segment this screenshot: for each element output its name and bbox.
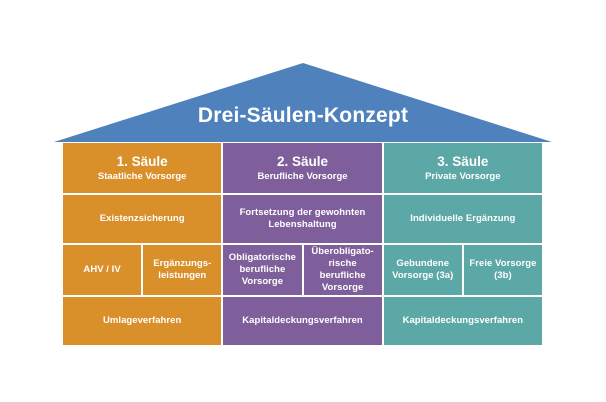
pillar-2-financing-label: Kapitaldeckungsverfahren — [242, 315, 363, 327]
pillar-2-subtitle: Berufliche Vorsorge — [257, 171, 347, 183]
pillar-1-subtitle: Staatliche Vorsorge — [98, 171, 187, 183]
pillar-2-financing[interactable]: Kapitaldeckungsverfahren — [223, 297, 381, 345]
diagram-canvas: Drei-Säulen-Konzept 1. Säule Staatliche … — [0, 0, 606, 402]
grid-row-components: AHV / IV Ergänzungs-leistungen Obligator… — [63, 245, 542, 295]
pillar-3-number: 3. Säule — [437, 153, 488, 170]
pillar-1-financing-label: Umlageverfahren — [103, 315, 181, 327]
pillar-2-component-2[interactable]: Überobligato-rische berufliche Vorsorge — [304, 245, 382, 295]
pillar-1-component-2[interactable]: Ergänzungs-leistungen — [143, 245, 221, 295]
pillar-3-components: Gebundene Vorsorge (3a) Freie Vorsorge (… — [384, 245, 542, 295]
diagram-title: Drei-Säulen-Konzept — [54, 103, 552, 129]
pillar-1-component-1[interactable]: AHV / IV — [63, 245, 141, 295]
pillar-2-component-1-label: Obligatorische berufliche Vorsorge — [227, 252, 297, 288]
pillar-2-component-2-label: Überobligato-rische berufliche Vorsorge — [308, 246, 378, 294]
pillar-1-purpose[interactable]: Existenzsicherung — [63, 195, 221, 243]
pillar-2-purpose-label: Fortsetzung der gewohnten Lebenshaltung — [227, 207, 377, 231]
pillar-3-financing[interactable]: Kapitaldeckungsverfahren — [384, 297, 542, 345]
pillar-3-purpose[interactable]: Individuelle Ergänzung — [384, 195, 542, 243]
grid-row-financing: Umlageverfahren Kapitaldeckungsverfahren… — [63, 297, 542, 345]
roof-triangle: Drei-Säulen-Konzept — [54, 63, 552, 143]
pillar-3-component-1-label: Gebundene Vorsorge (3a) — [388, 258, 458, 282]
pillar-1-financing[interactable]: Umlageverfahren — [63, 297, 221, 345]
pillar-1-component-2-label: Ergänzungs-leistungen — [147, 258, 217, 282]
pillar-3-component-2[interactable]: Freie Vorsorge (3b) — [464, 245, 542, 295]
pillar-1-header[interactable]: 1. Säule Staatliche Vorsorge — [63, 143, 221, 193]
pillars-grid: 1. Säule Staatliche Vorsorge 2. Säule Be… — [63, 143, 542, 347]
pillar-3-subtitle: Private Vorsorge — [425, 171, 500, 183]
pillar-1-component-1-label: AHV / IV — [83, 264, 120, 276]
pillar-2-purpose[interactable]: Fortsetzung der gewohnten Lebenshaltung — [223, 195, 381, 243]
pillar-1-number: 1. Säule — [117, 153, 168, 170]
pillar-3-header[interactable]: 3. Säule Private Vorsorge — [384, 143, 542, 193]
pillar-3-component-2-label: Freie Vorsorge (3b) — [468, 258, 538, 282]
pillar-3-purpose-label: Individuelle Ergänzung — [410, 213, 515, 225]
pillar-2-component-1[interactable]: Obligatorische berufliche Vorsorge — [223, 245, 301, 295]
grid-row-purpose: Existenzsicherung Fortsetzung der gewohn… — [63, 195, 542, 243]
pillar-2-number: 2. Säule — [277, 153, 328, 170]
pillar-2-header[interactable]: 2. Säule Berufliche Vorsorge — [223, 143, 381, 193]
pillar-1-purpose-label: Existenzsicherung — [100, 213, 185, 225]
pillar-3-financing-label: Kapitaldeckungsverfahren — [403, 315, 524, 327]
grid-row-headers: 1. Säule Staatliche Vorsorge 2. Säule Be… — [63, 143, 542, 193]
pillar-1-components: AHV / IV Ergänzungs-leistungen — [63, 245, 221, 295]
pillar-2-components: Obligatorische berufliche Vorsorge Übero… — [223, 245, 381, 295]
pillar-3-component-1[interactable]: Gebundene Vorsorge (3a) — [384, 245, 462, 295]
